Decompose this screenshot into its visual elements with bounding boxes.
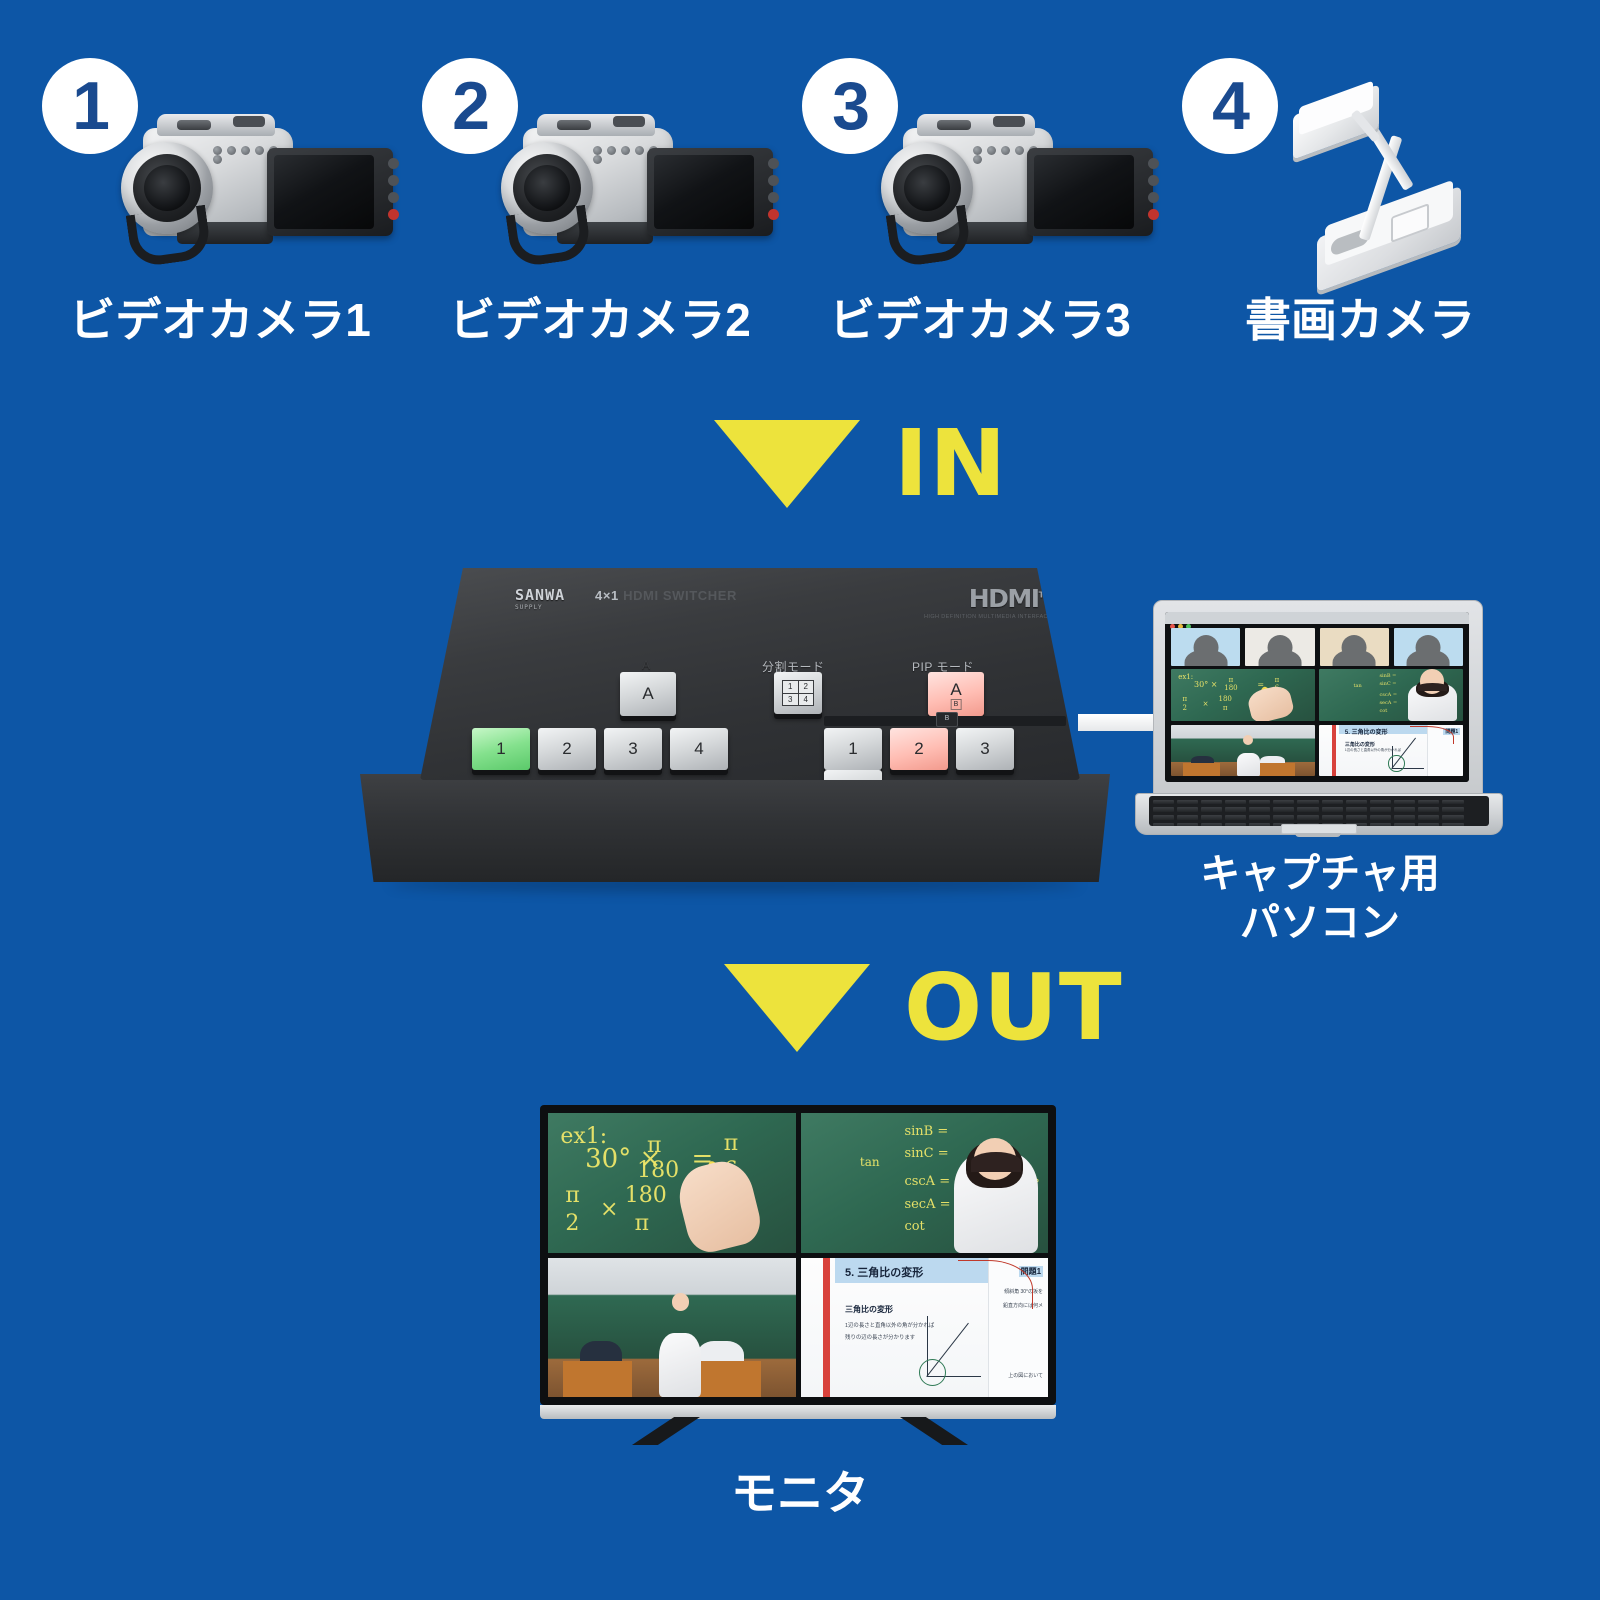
document-camera-icon [1265,90,1495,290]
camcorder-icon [495,106,785,266]
mon-chalk-f1d: 180 [637,1158,679,1183]
video-conference-app: ex1: 30° × π 180 = π 6 π 2 × 180 π [1165,612,1469,782]
input-key-b-1[interactable]: 1 [824,728,882,770]
quad-grid-icon: 1 2 3 4 [782,680,814,706]
chalk-frac4-num: 180 [1219,695,1232,703]
output-monitor: ex1: 30° × π 180 = π 6 π 2 × 180 π [520,1105,1080,1505]
quad-cell-textbook: 5. 三角比の変形 三角比の変形 1辺の長さと直角以外の角が分かれば 問題1 [1319,725,1463,777]
input-key-b-3[interactable]: 3 [956,728,1014,770]
chalk-ex1: ex1: [1178,673,1193,681]
monitor-foot-left [632,1417,700,1445]
flow-in: IN [714,418,1007,510]
key-mode-a[interactable]: A [620,672,676,716]
mon-textbook-title: 5. 三角比の変形 [845,1264,923,1280]
quad-view-grid: ex1: 30° × π 180 = π 6 π 2 × 180 π [1171,669,1463,776]
laptop-screen: ex1: 30° × π 180 = π 6 π 2 × 180 π [1165,612,1469,782]
triangle-down-icon [724,964,870,1052]
monitor-cell-teacher: sinB = sinC = cscA = secA = cot tan 45° [801,1113,1049,1253]
monitor-chin [540,1405,1056,1419]
source-label-4: 書画カメラ [1160,284,1560,350]
source-item-3: 3 ビデオカメラ3 [780,40,1180,350]
app-title-bar [1165,612,1469,624]
mode-label-a: A [642,658,651,672]
source-row: 1 ビデオカメラ1 2 [0,40,1600,350]
laptop-label: キャプチャ用 パソコン [1115,850,1525,948]
participant-tile[interactable] [1171,628,1240,666]
brand-logo: SANWA SUPPLY [515,586,565,611]
flow-in-label: IN [894,418,1007,510]
chalk-tan: tan [1354,683,1362,689]
laptop-label-line2: パソコン [1240,901,1400,945]
input-key-row-a: 1234 [472,728,736,770]
chalk-frac4-den: π [1223,704,1228,712]
mon-chalk-f3n: π [565,1183,579,1208]
monitor-label: モニタ [520,1457,1080,1523]
input-key-a-4[interactable]: 4 [670,728,728,770]
source-item-1: 1 ビデオカメラ1 [20,40,420,350]
chalk-mult: × [1203,700,1209,708]
input-key-b-2[interactable]: 2 [890,728,948,770]
mon-chalk-sinc: sinC = [904,1146,948,1161]
mon-textbook-subtitle: 三角比の変形 [845,1304,893,1315]
triangle-down-icon [714,420,860,508]
capture-laptop: ex1: 30° × π 180 = π 6 π 2 × 180 π [1135,600,1505,860]
camcorder-icon [115,106,405,266]
laptop-notch [1295,833,1341,837]
mon-chalk-f4n: 180 [625,1183,667,1208]
key-pip-mode[interactable]: A B [928,672,984,716]
mon-chalk-tan: tan [860,1155,880,1169]
pip-main-label: A [950,680,961,700]
hdmi-tm: TM [1039,591,1052,600]
brand-subtitle: SUPPLY [515,604,565,611]
hdmi-wordmark: HDMI [969,584,1039,613]
quad-cell-3: 3 [783,694,798,706]
monitor-foot-right [900,1417,968,1445]
chalk-csca: cscA = [1379,692,1397,698]
participant-tile[interactable] [1320,628,1389,666]
laptop-label-line1: キャプチャ用 [1200,852,1440,896]
mon-chalk-sinb: sinB = [904,1124,948,1139]
participant-tile[interactable] [1394,628,1463,666]
chalk-sinb: sinB = [1379,673,1396,679]
mon-textbook-body-1: 1辺の長さと直角以外の角が分かれば [845,1322,934,1331]
model-rest: HDMI SWITCHER [623,588,737,603]
participant-tile[interactable] [1245,628,1314,666]
mon-chalk-mult: × [600,1197,618,1222]
mon-chalk-f4d: π [635,1211,649,1236]
device-top-panel: SANWA SUPPLY 4×1 HDMI SWITCHER HDMITM HI… [420,568,1080,780]
diagram-canvas: 1 ビデオカメラ1 2 [0,0,1600,1600]
chalk-seca: secA = [1379,700,1397,706]
chalk-line2: 30° × [1194,680,1217,689]
channel-b-tag: B [936,712,958,727]
flow-out: OUT [724,962,1123,1054]
monitor-cell-textbook: 5. 三角比の変形 三角比の変形 1辺の長さと直角以外の角が分かれば 残りの辺の… [801,1258,1049,1398]
quad-cell-classroom [1171,725,1315,777]
chalk-frac2-num: π [1275,676,1280,684]
device-front-panel: IR [360,774,1110,882]
chalk-frac1-den: 180 [1224,684,1237,692]
source-item-4: 4 書画カメラ [1160,40,1560,350]
input-key-a-2[interactable]: 2 [538,728,596,770]
chalk-frac3-num: π [1183,695,1188,703]
pip-sub-label: B [951,699,962,710]
input-key-a-1[interactable]: 1 [472,728,530,770]
source-item-2: 2 ビデオカメラ2 [400,40,800,350]
chalk-cot: cot [1379,708,1387,714]
quad-cell-teacher: sinB = sinC = cscA = secA = cot tan [1319,669,1463,721]
model-prefix: 4×1 [595,588,619,603]
mon-chalk-f2n: π [724,1131,738,1156]
monitor-frame: ex1: 30° × π 180 = π 6 π 2 × 180 π [540,1105,1056,1405]
mon-chalk-seca: secA = [904,1197,950,1212]
chalk-frac1-num: π [1229,676,1234,684]
participant-thumbnails [1171,628,1463,666]
quad-cell-2: 2 [799,681,814,693]
mon-chalk-cot: cot [904,1219,924,1234]
hdmi-switcher-device: IR SANWA SUPPLY 4×1 HDMI SWITCHER HDMITM… [360,560,1120,920]
device-model-label: 4×1 HDMI SWITCHER [595,588,737,603]
textbook-title: 5. 三角比の変形 [1345,727,1388,736]
mon-chalk-f1n: π [647,1133,661,1158]
chalk-frac3-den: 2 [1183,704,1187,712]
monitor-quad-grid: ex1: 30° × π 180 = π 6 π 2 × 180 π [548,1113,1048,1397]
source-label-2: ビデオカメラ2 [400,284,800,350]
source-label-1: ビデオカメラ1 [20,284,420,350]
monitor-cell-classroom [548,1258,796,1398]
mon-chalk-csca: cscA = [904,1174,950,1189]
quad-cell-4: 4 [799,694,814,706]
monitor-cell-chalkboard: ex1: 30° × π 180 = π 6 π 2 × 180 π [548,1113,796,1253]
camcorder-icon [875,106,1165,266]
source-badge-4: 4 [1182,58,1278,154]
quad-cell-chalkboard: ex1: 30° × π 180 = π 6 π 2 × 180 π [1171,669,1315,721]
brand-name: SANWA [515,586,565,604]
mon-textbook-body-2: 残りの辺の長さが分かります [845,1334,915,1343]
quad-cell-1: 1 [783,681,798,693]
chalk-sinc: sinC = [1379,681,1396,687]
hdmi-logo: HDMITM HIGH DEFINITION MULTIMEDIA INTERF… [924,584,1052,620]
source-label-3: ビデオカメラ3 [780,284,1180,350]
flow-out-label: OUT [904,962,1123,1054]
hdmi-subtitle: HIGH DEFINITION MULTIMEDIA INTERFACE [924,614,1052,620]
key-split-mode[interactable]: 1 2 3 4 [774,672,822,714]
input-key-a-3[interactable]: 3 [604,728,662,770]
laptop-keyboard[interactable] [1149,796,1489,826]
mon-textbook-right-3: 上の図において [1008,1372,1043,1381]
mon-chalk-f3d: 2 [565,1211,579,1236]
